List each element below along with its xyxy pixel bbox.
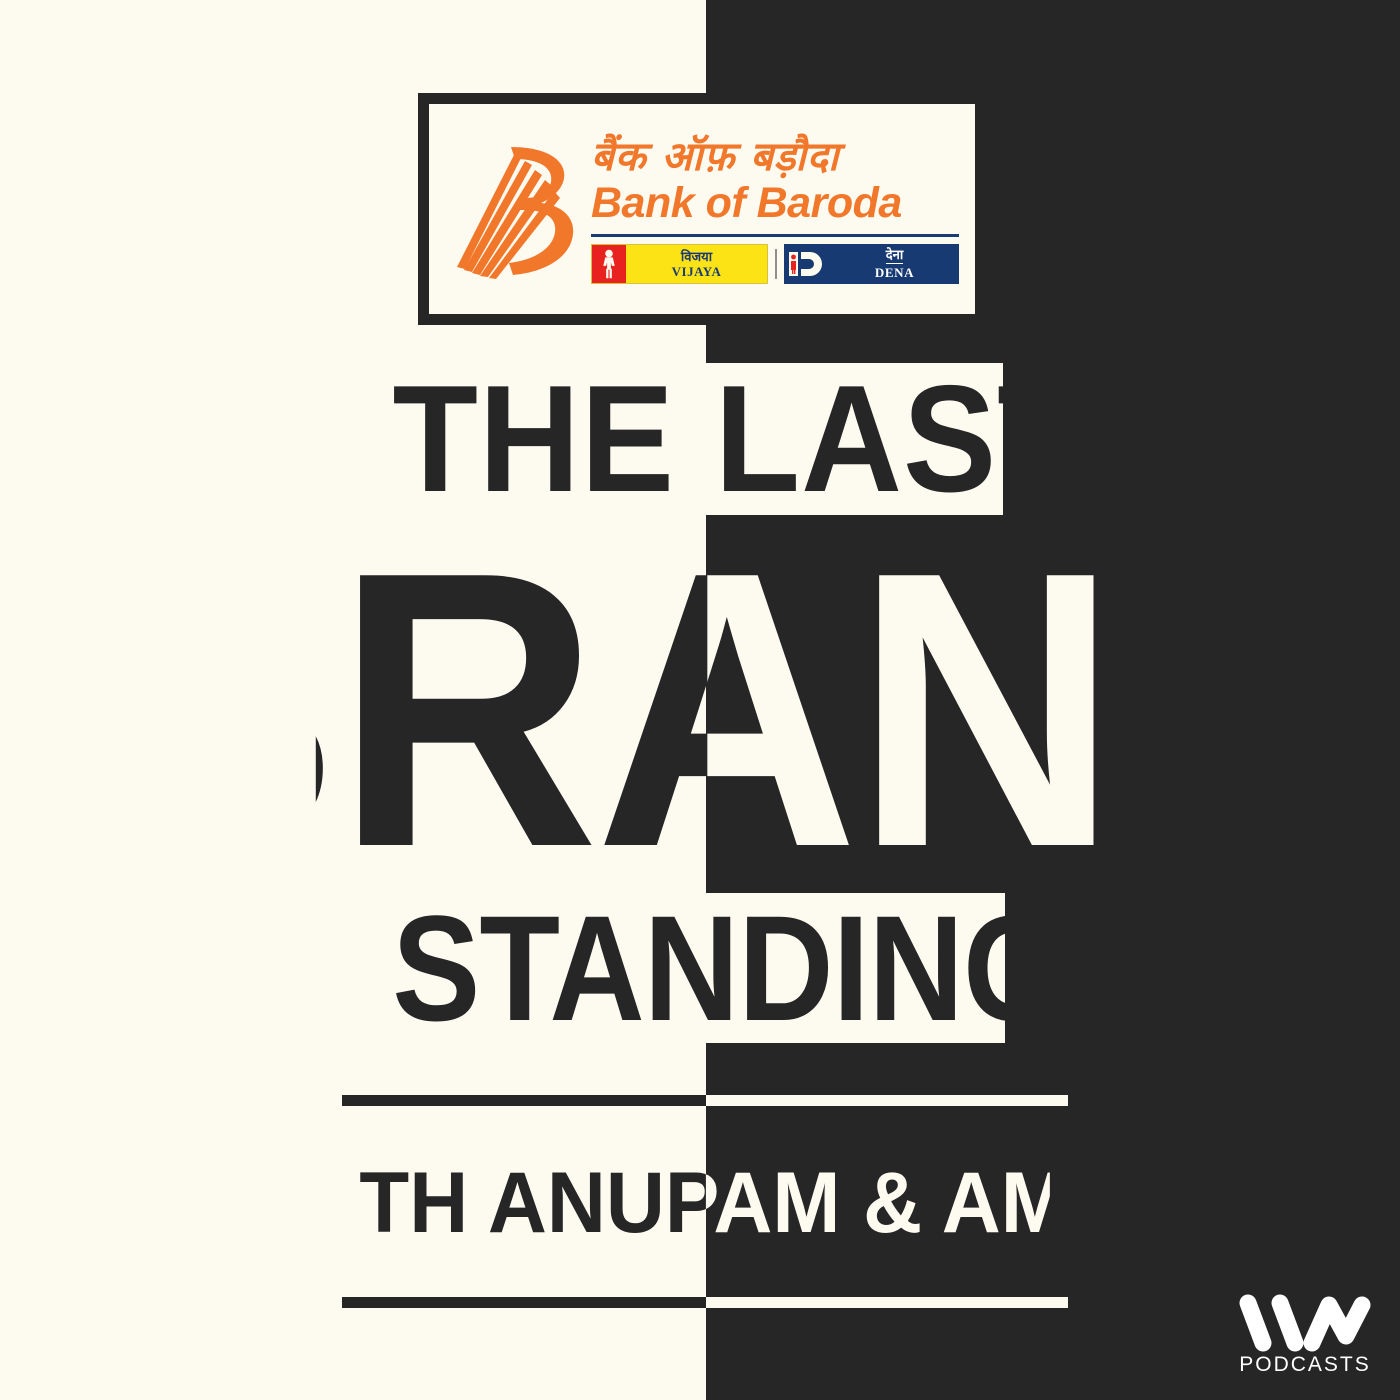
- hosts-rule-bottom: [342, 1297, 1068, 1308]
- hosts-rule-top-right-segment: [706, 1095, 1068, 1106]
- dena-d-icon: [784, 244, 830, 284]
- podcast-cover-art: बैंक ऑफ़ बड़ौदा Bank of Baroda: [0, 0, 1400, 1400]
- sponsor-subbrand-row: विजया VIJAYA: [591, 244, 959, 284]
- vijaya-text-block: विजया VIJAYA: [626, 245, 767, 283]
- vijaya-figure-icon: [592, 245, 626, 283]
- subbrand-vijaya: विजया VIJAYA: [591, 244, 768, 284]
- hosts-rule-bottom-left-segment: [342, 1297, 706, 1308]
- ivm-podcasts-label: PODCASTS: [1232, 1352, 1378, 1378]
- dena-latin-label: DENA: [875, 266, 914, 279]
- vijaya-latin-label: VIJAYA: [672, 265, 722, 278]
- title-line3: STANDING: [485, 893, 972, 1043]
- ivm-wave-icon: [1232, 1292, 1378, 1354]
- title-line1: THE LAST: [494, 363, 982, 515]
- sponsor-logo-inner: बैंक ऑफ़ बड़ौदा Bank of Baroda: [429, 104, 975, 314]
- vijaya-hindi-label: विजया: [681, 251, 712, 264]
- hosts-rule-top-left-segment: [342, 1095, 706, 1106]
- sponsor-wordmark-column: बैंक ऑफ़ बड़ौदा Bank of Baroda: [591, 134, 959, 284]
- title-line2-wrap: BRAND BRAND: [285, 520, 1165, 900]
- dena-hindi-label: देना: [886, 249, 904, 264]
- ivm-podcasts-logo: PODCASTS: [1232, 1292, 1378, 1388]
- sponsor-divider-line: [591, 234, 959, 237]
- subbrand-separator: [768, 244, 784, 284]
- dena-text-block: देना DENA: [830, 244, 959, 284]
- hosts-line-wrap: WITH ANUPAM & AMBI WITH ANUPAM & AMBI: [342, 1148, 1068, 1258]
- hosts-rule-top: [342, 1095, 1068, 1106]
- sponsor-hindi-wordmark: बैंक ऑफ़ बड़ौदा: [591, 136, 959, 179]
- subbrand-dena: देना DENA: [784, 244, 959, 284]
- sponsor-latin-wordmark: Bank of Baroda: [591, 182, 959, 226]
- sponsor-logo-card: बैंक ऑफ़ बड़ौदा Bank of Baroda: [418, 93, 986, 325]
- baroda-b-swoosh-icon: [449, 139, 581, 279]
- hosts-rule-bottom-right-segment: [706, 1297, 1068, 1308]
